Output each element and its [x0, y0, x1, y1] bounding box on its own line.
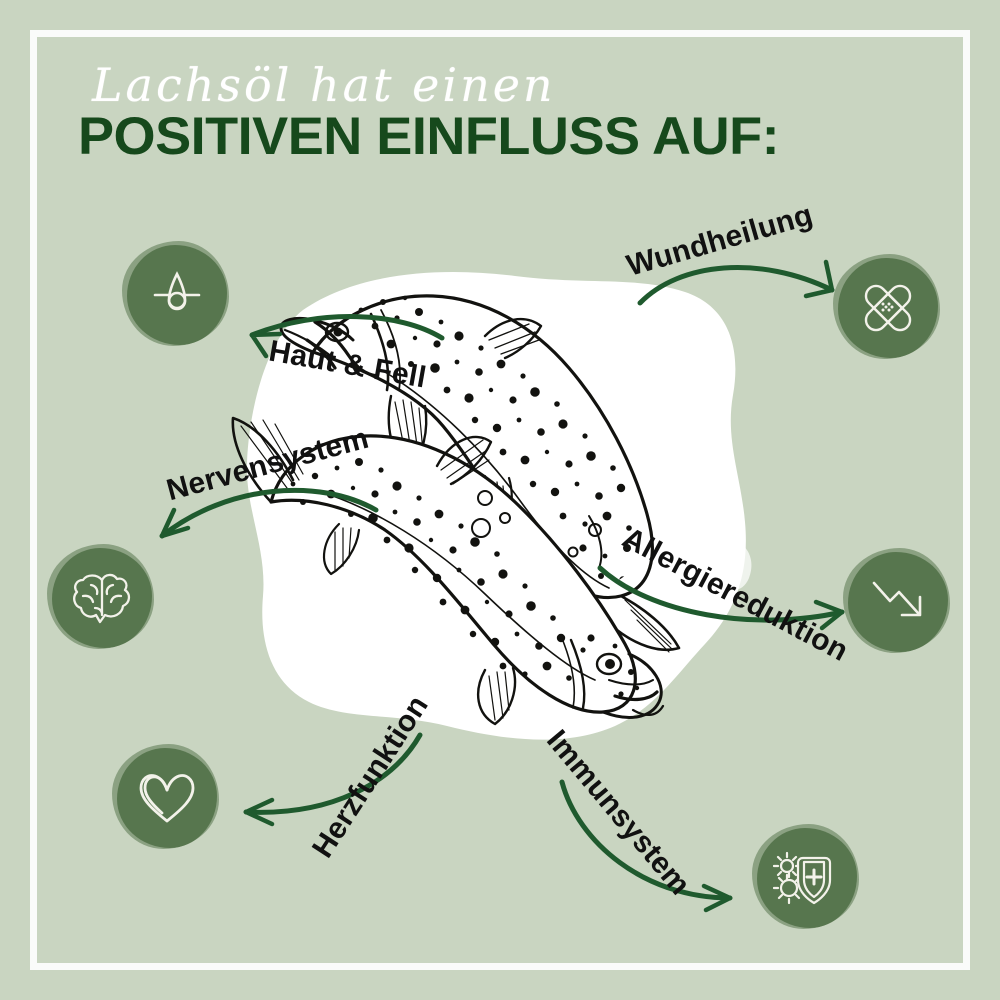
- salmon-illustration: [185, 240, 825, 780]
- hair-follicle-icon: [146, 264, 208, 326]
- headline-block: Lachsöl hat einen POSITIVEN EINFLUSS AUF…: [78, 62, 878, 163]
- shield-virus-icon: [773, 846, 841, 910]
- brain-icon: [69, 568, 135, 628]
- badge-haut-fell[interactable]: [127, 245, 227, 345]
- bandage-icon: [855, 275, 921, 341]
- badge-allergiereduktion[interactable]: [848, 552, 948, 652]
- badge-immunsystem[interactable]: [757, 828, 857, 928]
- heart-icon: [134, 767, 200, 829]
- badge-nervensystem[interactable]: [52, 548, 152, 648]
- headline-script-line: Lachsöl hat einen: [92, 62, 878, 108]
- poster-canvas: Lachsöl hat einen POSITIVEN EINFLUSS AUF…: [0, 0, 1000, 1000]
- page-title: POSITIVEN EINFLUSS AUF:: [78, 110, 894, 163]
- declining-arrow-icon: [866, 573, 930, 631]
- badge-herzfunktion[interactable]: [117, 748, 217, 848]
- badge-wundheilung[interactable]: [838, 258, 938, 358]
